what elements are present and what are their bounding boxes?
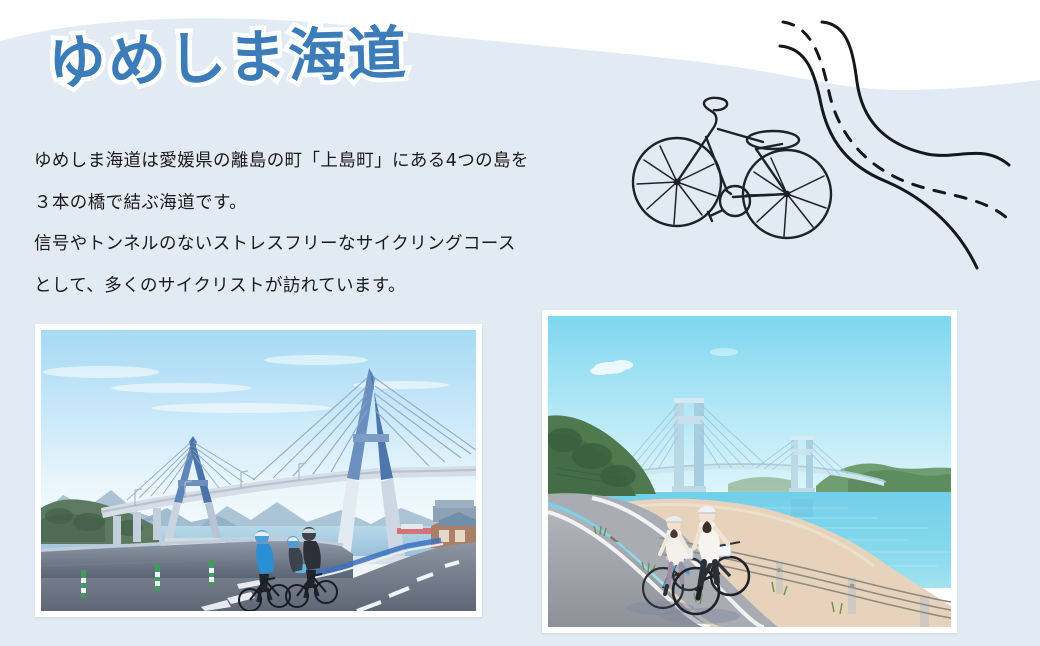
photo-right-image — [548, 316, 951, 627]
page-root: ゆめしま海道 ゆめしま海道は愛媛県の離島の町「上島町」にある4つの島を ３本の橋… — [0, 0, 1040, 646]
description-paragraph: ゆめしま海道は愛媛県の離島の町「上島町」にある4つの島を ３本の橋で結ぶ海道です… — [34, 141, 654, 308]
photo-left-image — [41, 330, 476, 611]
page-title-wrap: ゆめしま海道 — [48, 32, 408, 95]
page-title: ゆめしま海道 — [47, 22, 409, 95]
description-line-4: として、多くのサイクリストが訪れています。 — [34, 266, 654, 308]
description-line-2: ３本の橋で結ぶ海道です。 — [34, 183, 654, 225]
photo-yumeshima-bridge-cyclists[interactable] — [35, 324, 482, 617]
description-line-3: 信号やトンネルのないストレスフリーなサイクリングコース — [34, 224, 654, 266]
description-line-1: ゆめしま海道は愛媛県の離島の町「上島町」にある4つの島を — [34, 141, 654, 183]
winding-road-icon — [745, 0, 1040, 280]
photo-seaside-cycling-couple[interactable] — [542, 310, 957, 633]
